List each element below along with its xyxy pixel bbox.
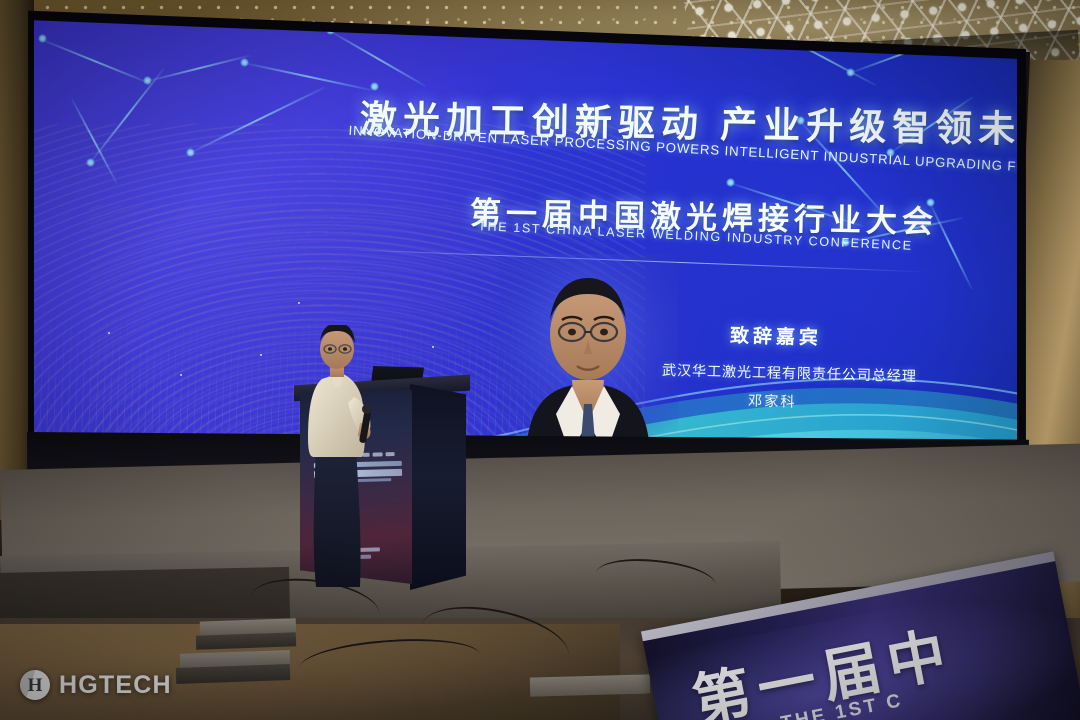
hgtech-watermark: H HGTECH	[20, 670, 172, 700]
guest-label: 致辞嘉宾	[730, 321, 823, 350]
conference-photo-scene: 激光加工创新驱动 产业升级智领未来 INNOVATION-DRIVEN LASE…	[0, 0, 1080, 720]
hgtech-logo-icon: H	[20, 670, 50, 700]
guest-organization: 武汉华工激光工程有限责任公司总经理	[662, 360, 917, 386]
hgtech-brand-text: HGTECH	[59, 671, 172, 700]
podium-side	[410, 384, 466, 590]
guest-portrait-photo	[498, 254, 678, 454]
hgtech-logo-letter: H	[28, 676, 43, 695]
speaker-person	[300, 325, 410, 590]
guest-name: 邓家科	[748, 390, 797, 411]
stage-step	[530, 674, 650, 696]
